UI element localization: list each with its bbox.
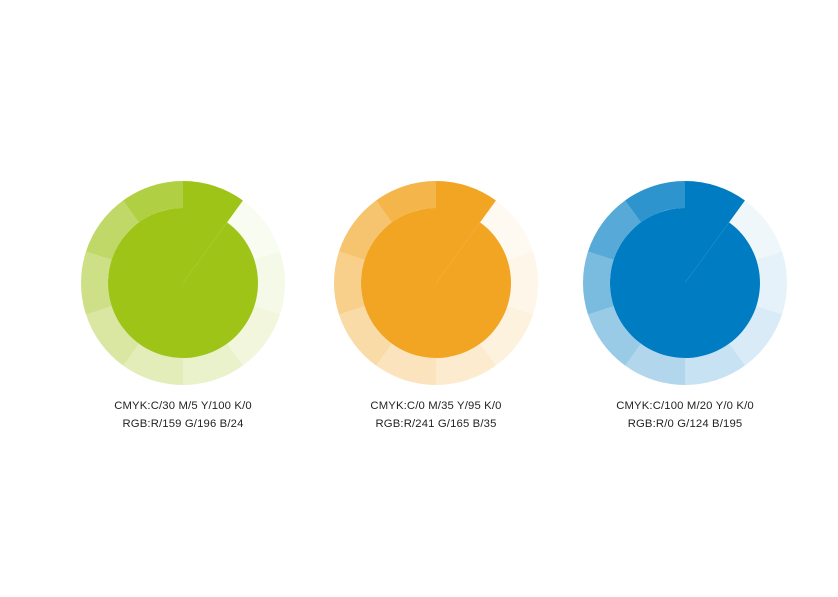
wheel-graphic-orange xyxy=(332,179,540,387)
wheel-graphic-blue xyxy=(581,179,789,387)
rgb-value-orange: RGB:R/241 G/165 B/35 xyxy=(370,415,501,433)
rgb-value-green: RGB:R/159 G/196 B/24 xyxy=(114,415,252,433)
ring-segment-orange-3 xyxy=(334,251,365,314)
ring-segment-orange-8 xyxy=(507,251,538,314)
ring-segment-green-3 xyxy=(81,251,112,314)
color-swatch-orange: CMYK:C/0 M/35 Y/95 K/0RGB:R/241 G/165 B/… xyxy=(306,179,566,434)
ring-segment-blue-8 xyxy=(756,251,787,314)
ring-segment-green-8 xyxy=(254,251,285,314)
rgb-value-blue: RGB:R/0 G/124 B/195 xyxy=(616,415,754,433)
cmyk-value-green: CMYK:C/30 M/5 Y/100 K/0 xyxy=(114,397,252,415)
palette-board: CMYK:C/30 M/5 Y/100 K/0RGB:R/159 G/196 B… xyxy=(0,0,838,597)
color-swatch-blue: CMYK:C/100 M/20 Y/0 K/0RGB:R/0 G/124 B/1… xyxy=(555,179,815,434)
color-wheel-green xyxy=(79,179,287,387)
ring-segment-blue-3 xyxy=(583,251,614,314)
cmyk-value-orange: CMYK:C/0 M/35 Y/95 K/0 xyxy=(370,397,501,415)
color-wheel-blue xyxy=(581,179,789,387)
color-swatch-green: CMYK:C/30 M/5 Y/100 K/0RGB:R/159 G/196 B… xyxy=(53,179,313,434)
cmyk-value-blue: CMYK:C/100 M/20 Y/0 K/0 xyxy=(616,397,754,415)
swatch-caption-orange: CMYK:C/0 M/35 Y/95 K/0RGB:R/241 G/165 B/… xyxy=(370,397,501,434)
color-wheel-orange xyxy=(332,179,540,387)
wheel-graphic-green xyxy=(79,179,287,387)
swatch-caption-blue: CMYK:C/100 M/20 Y/0 K/0RGB:R/0 G/124 B/1… xyxy=(616,397,754,434)
swatch-caption-green: CMYK:C/30 M/5 Y/100 K/0RGB:R/159 G/196 B… xyxy=(114,397,252,434)
